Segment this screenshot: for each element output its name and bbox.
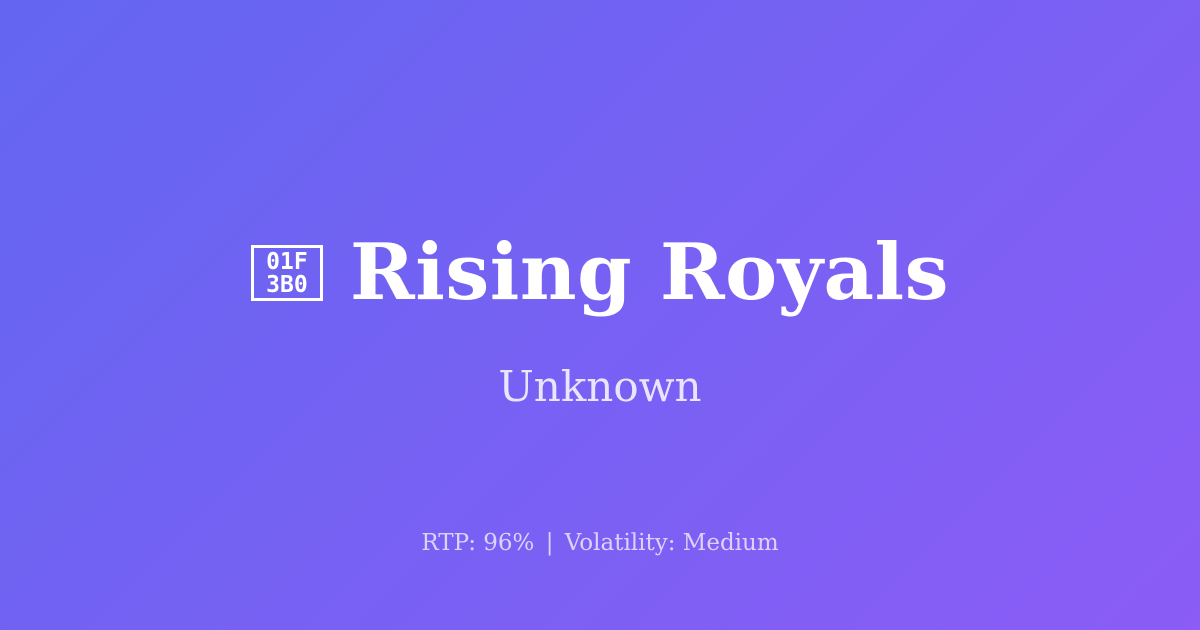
game-stats-line: RTP: 96% | Volatility: Medium — [0, 528, 1200, 558]
slot-machine-icon-codepoint-line-1: 01F — [266, 251, 308, 274]
title-row: 01F 3B0 Rising Royals — [0, 231, 1200, 315]
slot-machine-icon: 01F 3B0 — [251, 245, 323, 301]
game-title: Rising Royals — [350, 231, 949, 315]
provider-name: Unknown — [0, 362, 1200, 412]
volatility-stat: Volatility: Medium — [565, 530, 779, 556]
rtp-stat: RTP: 96% — [421, 530, 534, 556]
game-preview-card: 01F 3B0 Rising Royals Unknown RTP: 96% |… — [0, 0, 1200, 630]
stats-separator: | — [542, 530, 558, 556]
slot-machine-icon-codepoint-line-2: 3B0 — [266, 274, 308, 297]
